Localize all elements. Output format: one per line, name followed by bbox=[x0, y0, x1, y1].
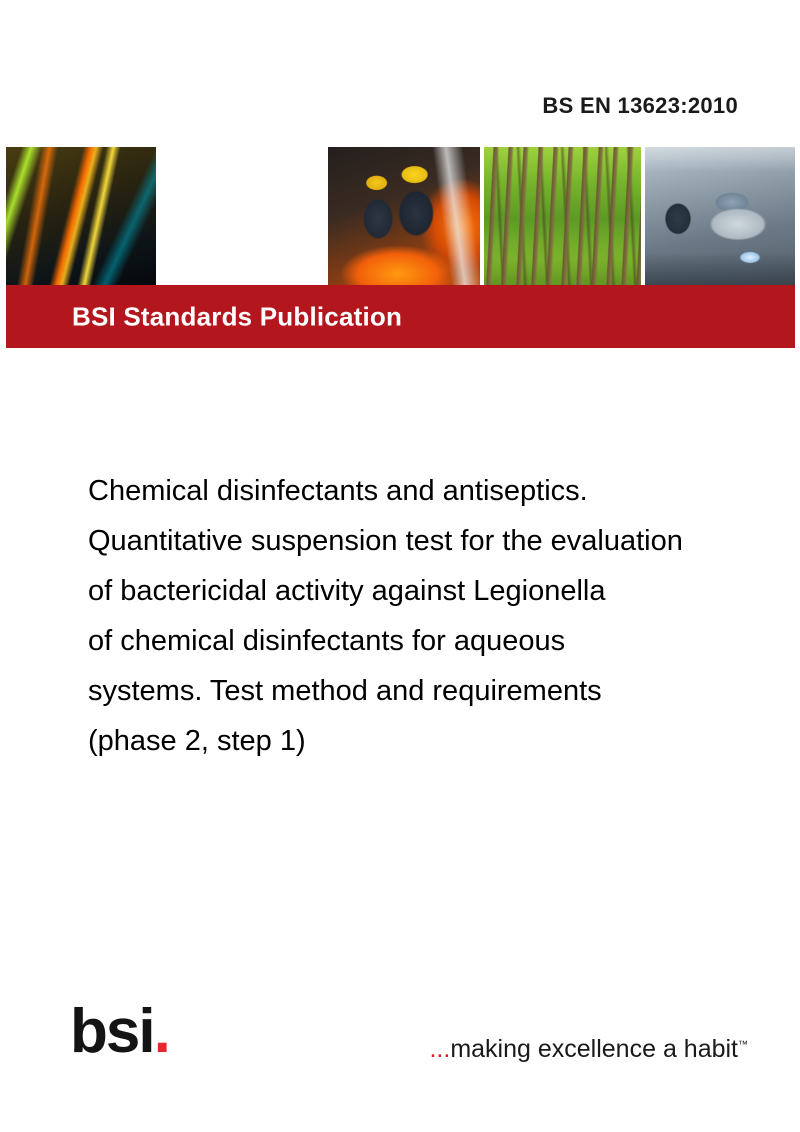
bsi-standards-banner: BSI Standards Publication bbox=[6, 285, 795, 348]
photo-warehouse-worker bbox=[161, 147, 324, 294]
photo-strip bbox=[6, 147, 795, 285]
warehouse-worker-image bbox=[161, 147, 324, 294]
title-line: Quantitative suspension test for the eva… bbox=[88, 516, 788, 566]
photo-forest-trees bbox=[484, 147, 641, 285]
photo-light-trails-night-traffic bbox=[6, 147, 156, 285]
bsi-tagline: ...making excellence a habit™ bbox=[429, 1035, 748, 1064]
header-block: BSI Standards Publication bbox=[6, 147, 795, 348]
title-line: of bactericidal activity against Legione… bbox=[88, 566, 788, 616]
firefighters-image bbox=[328, 147, 480, 285]
title-line: of chemical disinfectants for aqueous bbox=[88, 616, 788, 666]
standard-number: BS EN 13623:2010 bbox=[542, 93, 738, 119]
car-assembly-image bbox=[645, 147, 795, 285]
bsi-logo-text: bsi bbox=[70, 997, 154, 1066]
bsi-logo-dot: . bbox=[154, 997, 169, 1066]
tagline-ellipsis: ... bbox=[429, 1035, 450, 1063]
trademark-symbol: ™ bbox=[738, 1040, 748, 1051]
title-line: (phase 2, step 1) bbox=[88, 716, 788, 766]
photo-car-assembly-line bbox=[645, 147, 795, 285]
tagline-text: making excellence a habit bbox=[450, 1035, 738, 1063]
photo-firefighters-extinguishing-fire bbox=[328, 147, 480, 285]
page-title: Chemical disinfectants and antiseptics. … bbox=[88, 466, 788, 766]
banner-label: BSI Standards Publication bbox=[72, 301, 402, 332]
light-trails-image bbox=[6, 147, 156, 285]
forest-image bbox=[484, 147, 641, 285]
bsi-logo: bsi. bbox=[70, 1001, 169, 1063]
title-line: Chemical disinfectants and antiseptics. bbox=[88, 466, 788, 516]
title-line: systems. Test method and requirements bbox=[88, 666, 788, 716]
